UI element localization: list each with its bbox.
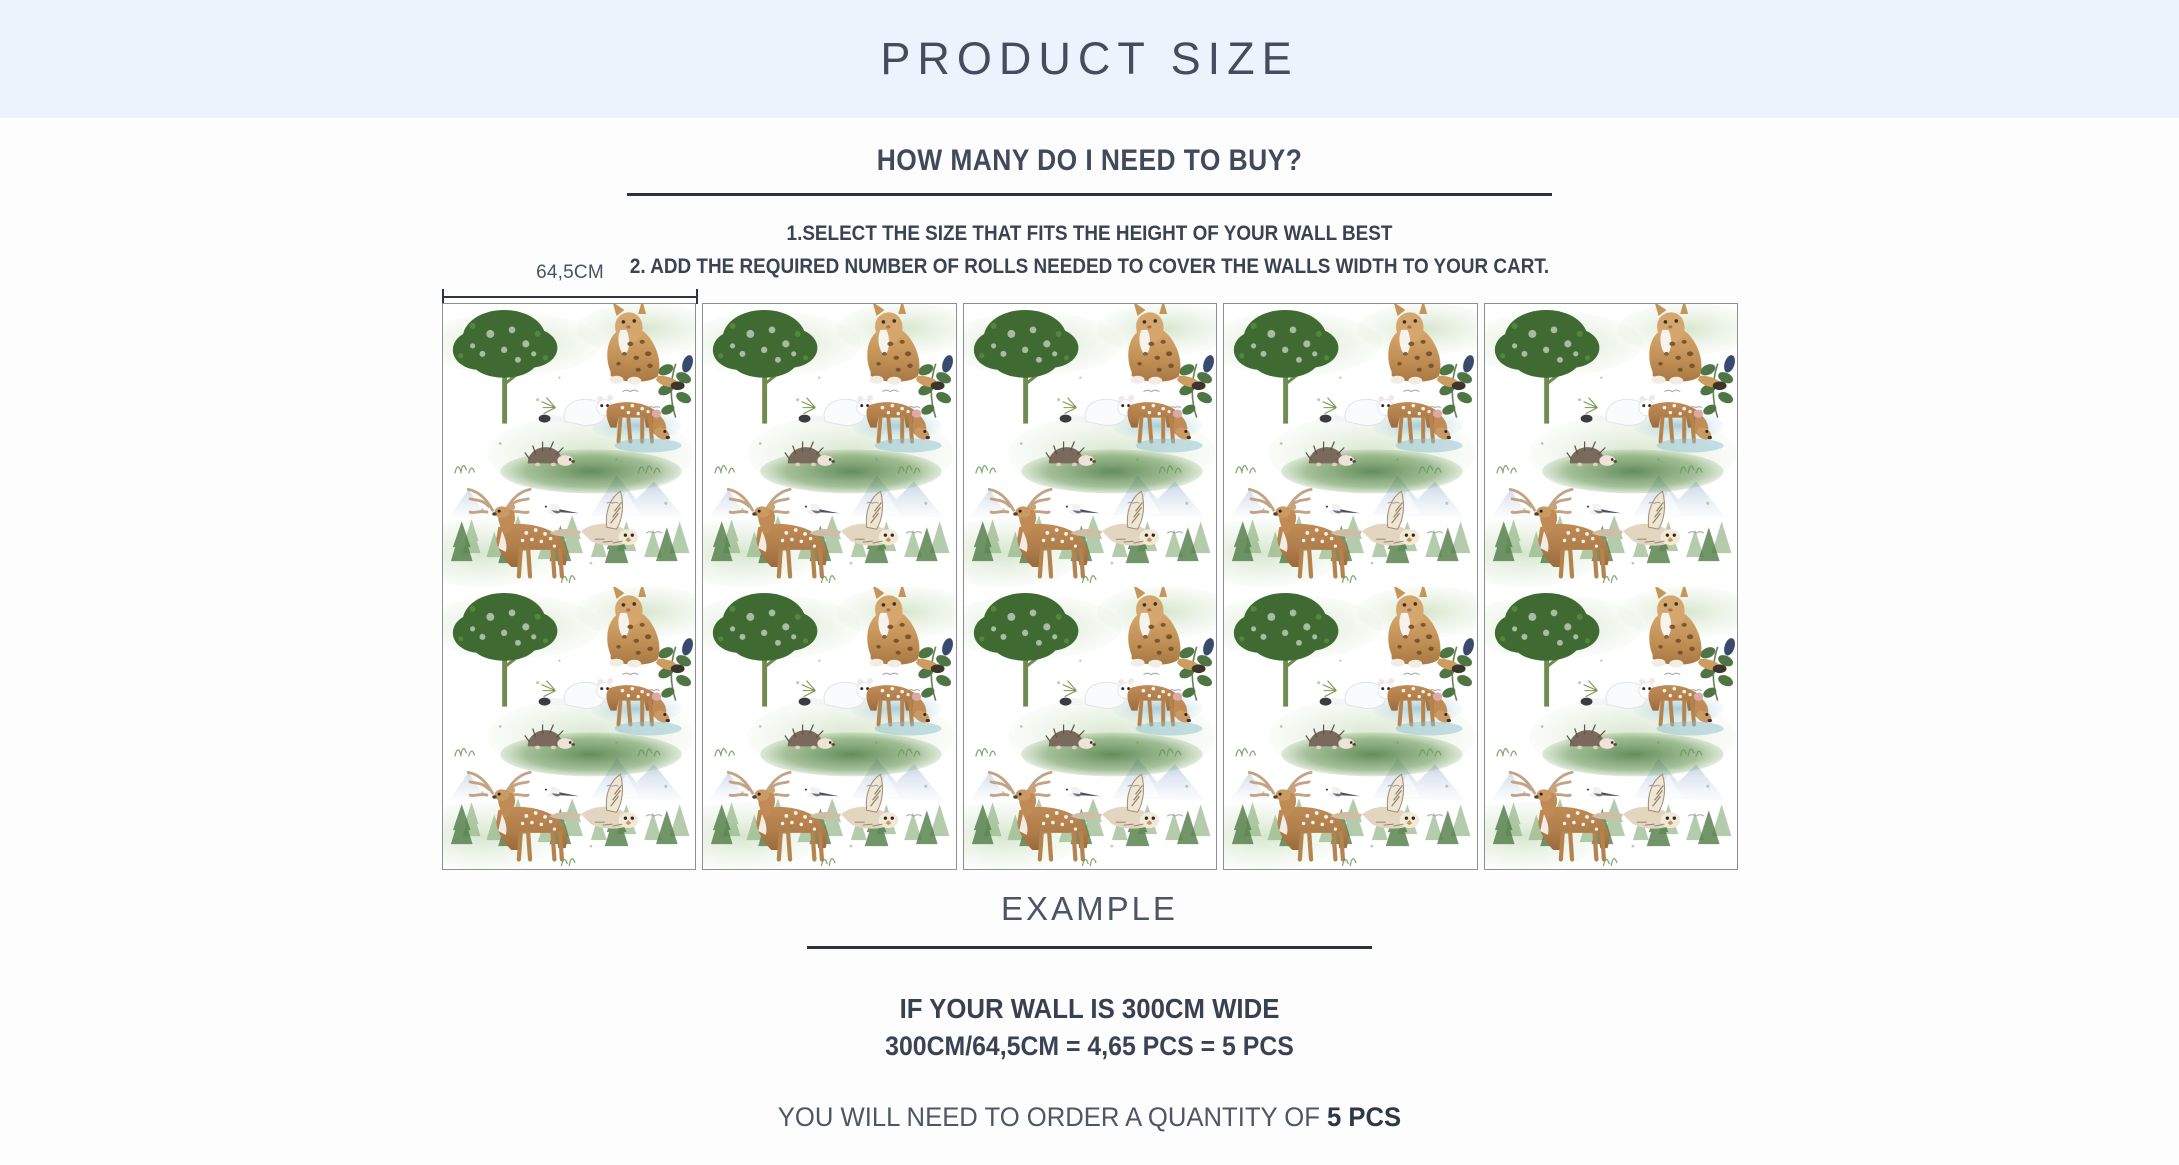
- example-calculation-line: 300CM/64,5CM = 4,65 PCS = 5 PCS: [87, 1031, 2092, 1062]
- example-order-line: YOU WILL NEED TO ORDER A QUANTITY OF 5 P…: [54, 1102, 2124, 1133]
- example-divider: [807, 946, 1372, 949]
- example-section: EXAMPLE IF YOUR WALL IS 300CM WIDE 300CM…: [0, 890, 2179, 1133]
- dimension-tick-right-icon: [696, 289, 698, 304]
- dimension-line: [442, 296, 698, 298]
- instructions-divider: [627, 193, 1552, 196]
- wallpaper-roll-2[interactable]: [702, 303, 956, 870]
- wallpaper-roll-5[interactable]: [1484, 303, 1738, 870]
- instruction-step-2: 2. ADD THE REQUIRED NUMBER OF ROLLS NEED…: [109, 251, 2070, 284]
- instructions-section: HOW MANY DO I NEED TO BUY? 1.SELECT THE …: [0, 118, 2179, 283]
- wallpaper-roll-1[interactable]: [442, 303, 696, 870]
- wallpaper-roll-4[interactable]: [1223, 303, 1477, 870]
- wallpaper-pattern-1: [443, 304, 695, 869]
- wallpaper-pattern-5: [1485, 304, 1737, 869]
- product-size-header: PRODUCT SIZE: [0, 0, 2179, 118]
- wallpaper-pattern-3: [964, 304, 1216, 869]
- wallpaper-roll-3[interactable]: [963, 303, 1217, 870]
- wallpaper-pattern-4: [1224, 304, 1476, 869]
- example-order-prefix: YOU WILL NEED TO ORDER A QUANTITY OF: [778, 1102, 1327, 1132]
- wallpaper-pattern-2: [703, 304, 955, 869]
- page-title: PRODUCT SIZE: [880, 33, 1298, 85]
- example-order-quantity: 5 PCS: [1327, 1102, 1401, 1132]
- instruction-step-1: 1.SELECT THE SIZE THAT FITS THE HEIGHT O…: [109, 218, 2070, 251]
- wallpaper-panel-strip: [442, 303, 1738, 870]
- example-wall-width-line: IF YOUR WALL IS 300CM WIDE: [87, 993, 2092, 1025]
- instructions-heading: HOW MANY DO I NEED TO BUY?: [131, 144, 2049, 178]
- dimension-line-group: [442, 289, 698, 303]
- roll-width-dimension: 64,5CM: [442, 262, 698, 303]
- example-heading: EXAMPLE: [0, 890, 2179, 928]
- dimension-label: 64,5CM: [442, 262, 698, 284]
